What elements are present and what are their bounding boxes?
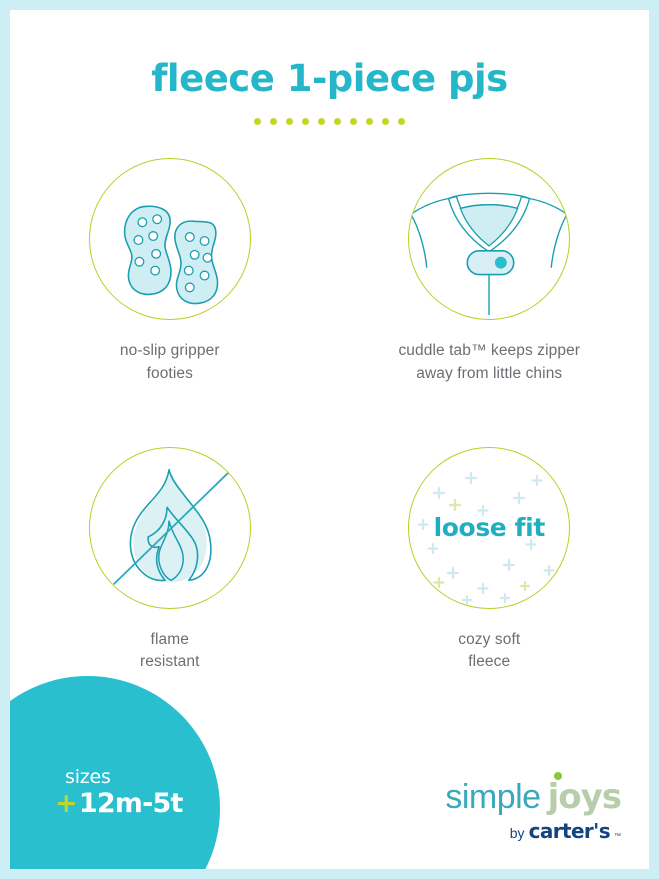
feature-grid: no-slip gripper footies: [10, 158, 649, 674]
title-block: fleece 1-piece pjs: [10, 60, 649, 125]
feature-row: flame resistant: [10, 447, 649, 675]
logo-j-dot-icon: [554, 772, 562, 780]
logo-brand-text: carter's: [529, 819, 610, 843]
divider-dot: [334, 118, 341, 125]
divider-dot: [286, 118, 293, 125]
feature-cell-loose-fit: loose fit cozy soft fleece: [330, 447, 650, 675]
logo-trademark-symbol: ™: [614, 833, 621, 840]
poster-inner-panel: fleece 1-piece pjs: [10, 10, 649, 869]
feature-row: no-slip gripper footies: [10, 158, 649, 386]
divider-dot: [366, 118, 373, 125]
divider-dot: [350, 118, 357, 125]
feature-caption: flame resistant: [140, 629, 199, 675]
feature-caption: no-slip gripper footies: [120, 340, 220, 386]
sizes-badge: sizes + 12m-5t: [10, 676, 220, 869]
feature-caption: cuddle tab™ keeps zipper away from littl…: [398, 340, 580, 386]
logo-joys-text: joys: [548, 777, 621, 817]
page-title: fleece 1-piece pjs: [10, 60, 649, 97]
feature-cell-flame-resistant: flame resistant: [10, 447, 330, 675]
logo-joys-label: joys: [548, 777, 621, 817]
logo-simple-text: simple: [445, 778, 540, 817]
logo-byline: by carter's ™: [445, 819, 621, 843]
cuddle-tab-collar-icon: [409, 158, 569, 320]
brand-logo: simple joys by carter's ™: [445, 777, 621, 843]
feature-caption: cozy soft fleece: [458, 629, 520, 675]
feature-cell-cuddle-tab: cuddle tab™ keeps zipper away from littl…: [330, 158, 650, 386]
feature-icon-circle: [408, 158, 570, 320]
dot-divider: [10, 118, 649, 125]
plus-icon: +: [55, 790, 77, 817]
divider-dot: [382, 118, 389, 125]
flame-resistant-icon: [90, 447, 250, 609]
poster-root: fleece 1-piece pjs: [0, 0, 659, 879]
divider-dot: [302, 118, 309, 125]
sizes-range-value: 12m-5t: [79, 789, 183, 819]
divider-dot: [318, 118, 325, 125]
divider-dot: [270, 118, 277, 125]
feature-icon-circle: [89, 158, 251, 320]
gripper-footies-icon: [90, 158, 250, 320]
logo-wordmark: simple joys: [445, 777, 621, 817]
sizes-range-row: + 12m-5t: [55, 789, 183, 819]
divider-dot: [398, 118, 405, 125]
feature-icon-circle: [89, 447, 251, 609]
sizes-label: sizes: [65, 768, 183, 788]
logo-by-text: by: [510, 825, 525, 841]
sizes-badge-text: sizes + 12m-5t: [55, 768, 183, 819]
feature-icon-circle: loose fit: [408, 447, 570, 609]
loose-fit-badge-text: loose fit: [434, 513, 545, 542]
feature-cell-gripper-footies: no-slip gripper footies: [10, 158, 330, 386]
divider-dot: [254, 118, 261, 125]
